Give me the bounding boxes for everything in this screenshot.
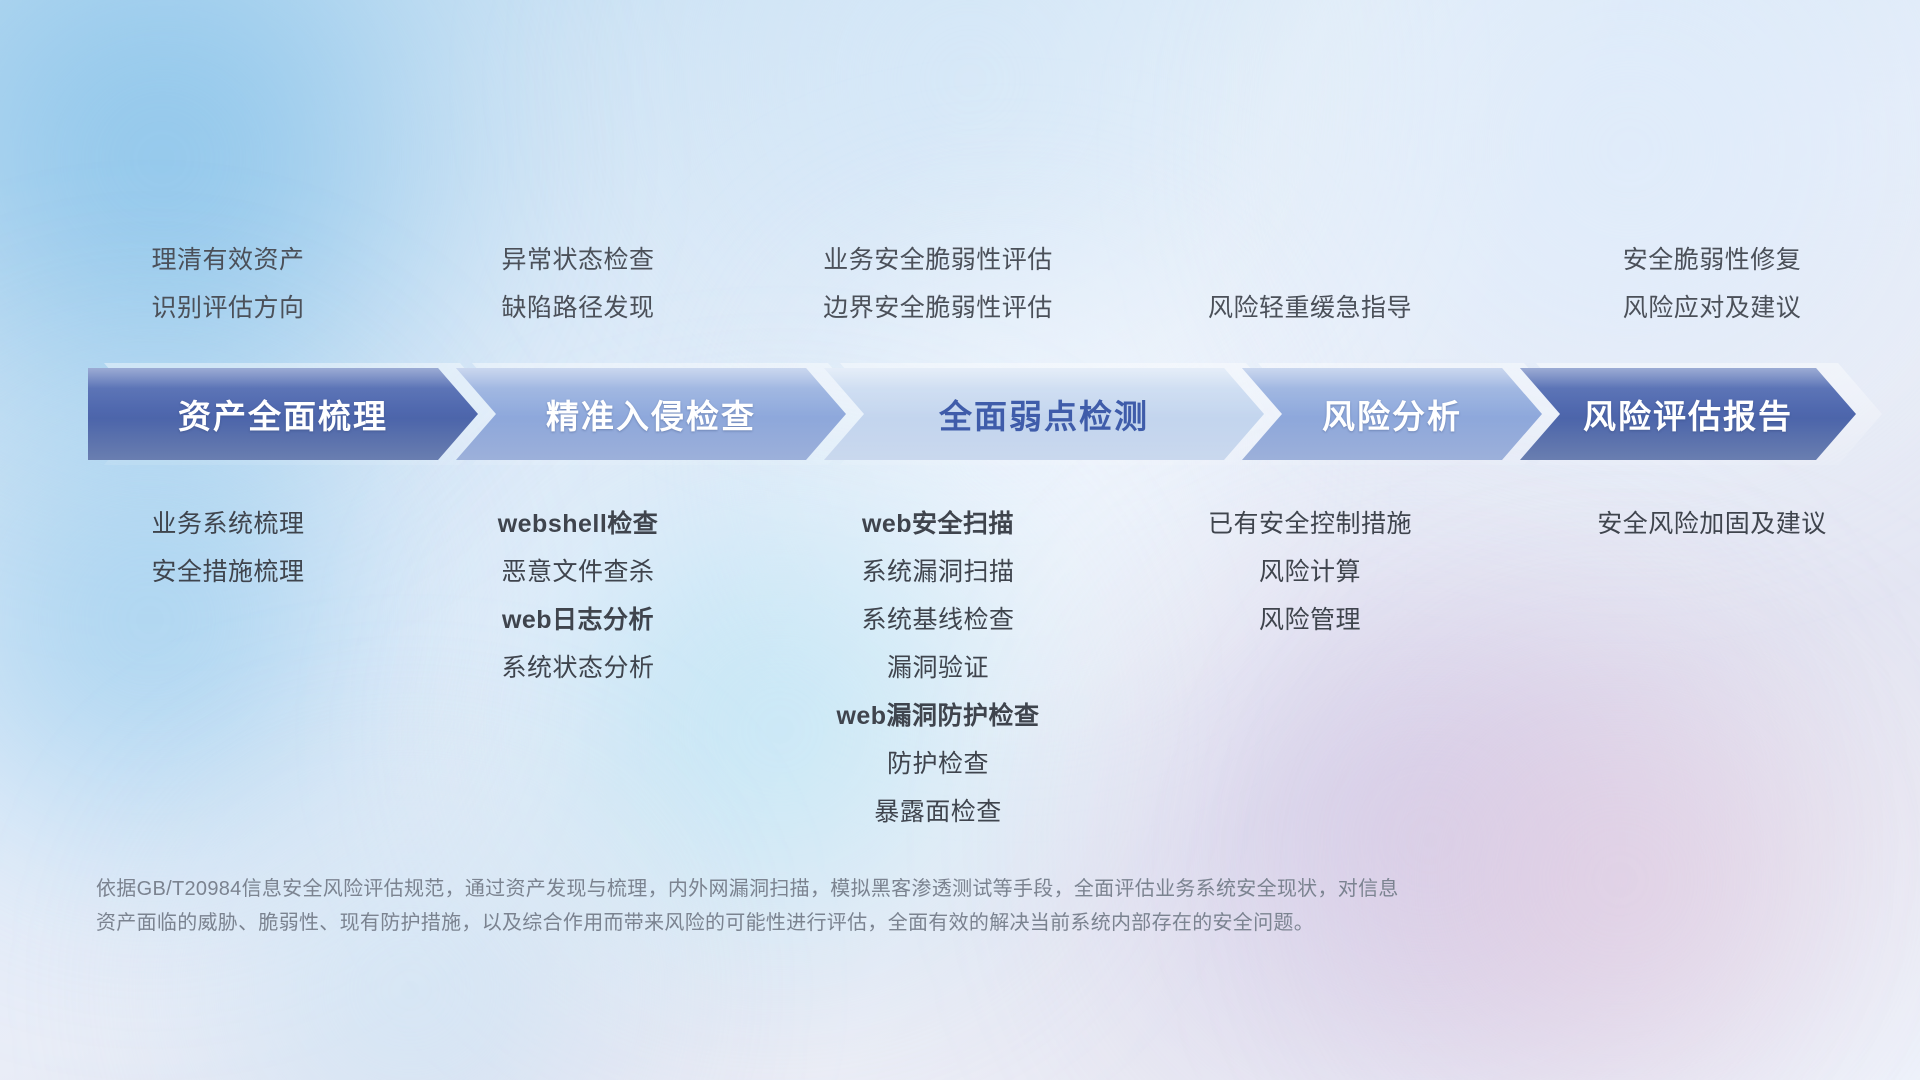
process-diagram: 理清有效资产识别评估方向异常状态检查缺陷路径发现业务安全脆弱性评估边界安全脆弱性… xyxy=(0,0,1920,1080)
detail-item: 安全风险加固及建议 xyxy=(1412,500,1920,548)
process-step-risk-analysis[interactable]: 风险分析 xyxy=(1242,368,1542,460)
footer-line-2: 资产面临的威胁、脆弱性、现有防护措施，以及综合作用而带来风险的可能性进行评估，全… xyxy=(96,906,1626,940)
annotation-item: 理清有效资产 xyxy=(151,236,304,284)
annotation-item: 风险应对及建议 xyxy=(1623,284,1802,332)
detail-item: 风险管理 xyxy=(1010,596,1610,644)
annotation-item: 异常状态检查 xyxy=(501,236,654,284)
footer-description: 依据GB/T20984信息安全风险评估规范，通过资产发现与梳理，内外网漏洞扫描，… xyxy=(96,872,1626,940)
process-step-asset-inventory[interactable]: 资产全面梳理 xyxy=(88,368,478,460)
process-step-caption: 精准入侵检查 xyxy=(546,390,756,438)
process-step-risk-report[interactable]: 风险评估报告 xyxy=(1520,368,1856,460)
process-step-caption: 风险分析 xyxy=(1322,390,1462,438)
process-step-weakness-detection[interactable]: 全面弱点检测 xyxy=(824,368,1264,460)
process-step-caption: 资产全面梳理 xyxy=(178,390,388,438)
detail-item: 暴露面检查 xyxy=(638,788,1238,836)
annotation-item: 边界安全脆弱性评估 xyxy=(823,284,1053,332)
process-arrow-banner: 资产全面梳理精准入侵检查全面弱点检测风险分析风险评估报告 xyxy=(88,368,1856,460)
detail-item: web漏洞防护检查 xyxy=(638,692,1238,740)
annotation-item: 风险轻重缓急指导 xyxy=(1208,284,1412,332)
footer-line-1: 依据GB/T20984信息安全风险评估规范，通过资产发现与梳理，内外网漏洞扫描，… xyxy=(96,872,1626,906)
process-step-caption: 风险评估报告 xyxy=(1583,390,1793,438)
detail-item: 防护检查 xyxy=(638,740,1238,788)
process-step-intrusion-check[interactable]: 精准入侵检查 xyxy=(456,368,846,460)
slide-canvas: 理清有效资产识别评估方向异常状态检查缺陷路径发现业务安全脆弱性评估边界安全脆弱性… xyxy=(0,0,1920,1080)
annotation-item: 缺陷路径发现 xyxy=(501,284,654,332)
annotation-item: 识别评估方向 xyxy=(151,284,304,332)
annotation-item: 业务安全脆弱性评估 xyxy=(823,236,1053,284)
detail-item: 漏洞验证 xyxy=(638,644,1238,692)
process-step-caption: 全面弱点检测 xyxy=(939,390,1149,438)
annotation-item: 安全脆弱性修复 xyxy=(1623,236,1802,284)
detail-item: 风险计算 xyxy=(1010,548,1610,596)
detail-list-risk-report: 安全风险加固及建议 xyxy=(1412,500,1920,548)
